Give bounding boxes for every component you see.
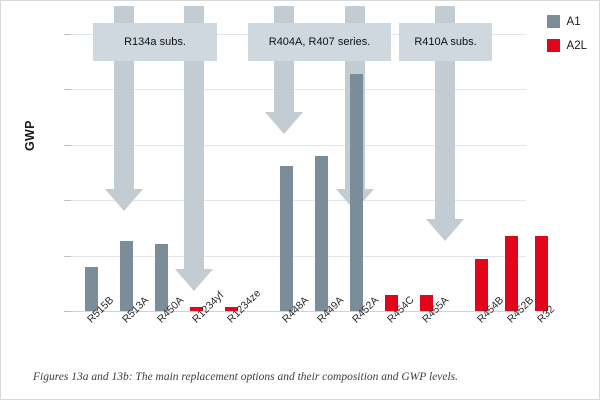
figure-caption: Figures 13a and 13b: The main replacemen… (33, 371, 573, 383)
y-tick-mark-2000 (64, 89, 71, 90)
bar-r32[interactable] (535, 236, 548, 311)
group-callout-r404a: R404A, R407 series. (248, 23, 391, 61)
figure-container: GWP 2500 2000 1500 1000 500 0 (0, 0, 600, 400)
y-tick-mark-1000 (64, 200, 71, 201)
gridline-500 (71, 256, 526, 257)
y-tick-mark-2500 (64, 34, 71, 35)
legend-item-a2l[interactable]: A2L (547, 39, 587, 52)
group-callout-r134a: R134a subs. (93, 23, 217, 61)
group-callout-r134a-label: R134a subs. (124, 36, 186, 48)
bar-r450a[interactable] (155, 244, 168, 311)
group-callout-r404a-label: R404A, R407 series. (269, 36, 371, 48)
group-callout-r410a-label: R410A subs. (414, 36, 476, 48)
plot-area: 2500 2000 1500 1000 500 0 (71, 34, 526, 311)
legend: A1 A2L (547, 15, 587, 63)
y-axis-label: GWP (23, 120, 37, 151)
bar-r448a[interactable] (280, 166, 293, 311)
y-tick-mark-0 (64, 311, 71, 312)
y-tick-mark-500 (64, 256, 71, 257)
y-tick-mark-1500 (64, 145, 71, 146)
legend-item-a1[interactable]: A1 (547, 15, 587, 28)
legend-swatch-a2l (547, 39, 560, 52)
bar-r452a[interactable] (350, 74, 363, 311)
legend-swatch-a1 (547, 15, 560, 28)
bar-r513a[interactable] (120, 241, 133, 311)
group-callout-r410a: R410A subs. (399, 23, 492, 61)
legend-label-a2l: A2L (567, 40, 587, 52)
bar-r449a[interactable] (315, 156, 328, 311)
legend-label-a1: A1 (567, 16, 581, 28)
bar-r454b[interactable] (475, 259, 488, 311)
bar-r452b[interactable] (505, 236, 518, 311)
x-axis-labels: R515B R513A R450A R1234yf R1234ze R448A … (71, 313, 526, 373)
